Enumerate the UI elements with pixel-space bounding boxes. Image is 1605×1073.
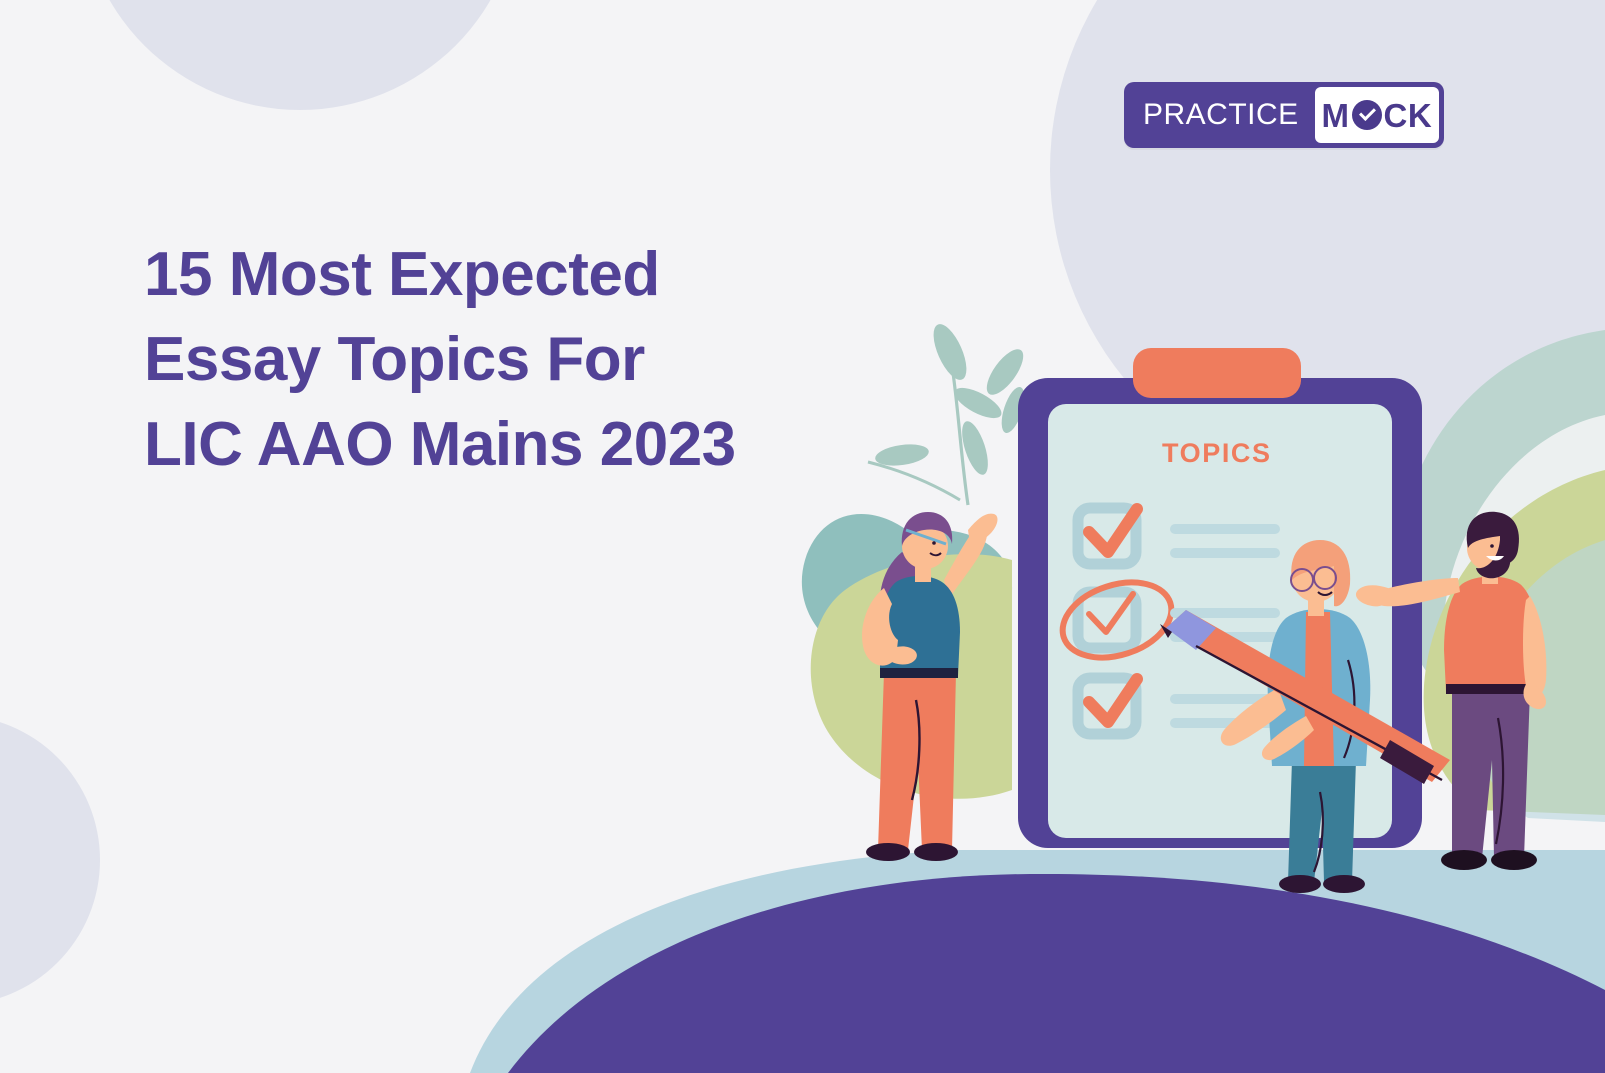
man-right-shoe-left bbox=[1441, 850, 1487, 870]
logo-mock-box: MCK bbox=[1315, 87, 1439, 143]
woman-left-shoe-left bbox=[866, 843, 910, 861]
page-title: 15 Most Expected Essay Topics For LIC AA… bbox=[144, 232, 904, 487]
woman-left-hand-up bbox=[968, 514, 997, 544]
man-right-arm-right bbox=[1523, 596, 1546, 697]
woman-center-shoe-right bbox=[1323, 875, 1365, 893]
logo-mock-ck: CK bbox=[1384, 99, 1433, 132]
man-right-shoe-right bbox=[1491, 850, 1537, 870]
banner-root: TOPICS bbox=[0, 0, 1605, 1073]
practicemock-logo[interactable]: PRACTICE MCK bbox=[1124, 82, 1444, 148]
man-right-shirt-hem bbox=[1446, 684, 1536, 694]
woman-left-pants bbox=[878, 672, 956, 850]
character-woman-left bbox=[862, 512, 997, 861]
logo-mock-text: MCK bbox=[1322, 99, 1433, 132]
logo-practice-text: PRACTICE bbox=[1129, 100, 1315, 130]
page-title-line-1: 15 Most Expected bbox=[144, 232, 904, 317]
page-title-line-3: LIC AAO Mains 2023 bbox=[144, 402, 904, 487]
check-circle-icon bbox=[1352, 100, 1382, 130]
character-man-right bbox=[1356, 512, 1546, 870]
woman-center-shoe-left bbox=[1279, 875, 1321, 893]
woman-left-shirt-hem bbox=[880, 668, 958, 678]
woman-left-eye bbox=[932, 541, 936, 545]
man-right-pants bbox=[1452, 690, 1530, 858]
woman-center-glasses-bridge bbox=[1313, 578, 1314, 579]
man-right-eye bbox=[1490, 544, 1494, 548]
characters-layer bbox=[0, 0, 1605, 1073]
logo-mock-m: M bbox=[1322, 99, 1350, 132]
woman-left-shoe-right bbox=[914, 843, 958, 861]
page-title-line-2: Essay Topics For bbox=[144, 317, 904, 402]
